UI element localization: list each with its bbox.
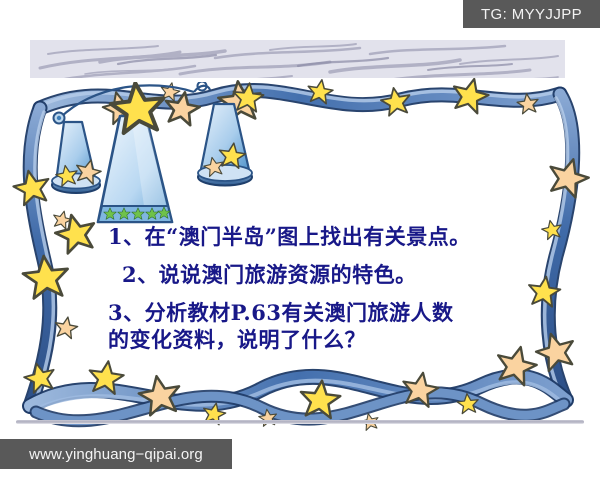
site-watermark: www.yinghuang−qipai.org — [0, 439, 232, 469]
question-line-1: 1、在“澳门半岛”图上找出有关景点。 — [108, 226, 528, 247]
question-line-3a: 3、分析教材P.63有关澳门旅游人数 — [108, 302, 528, 323]
horizontal-rule — [16, 420, 584, 424]
question-line-2: 2、说说澳门旅游资源的特色。 — [108, 264, 528, 285]
tg-badge: TG: MYYJJPP — [463, 0, 600, 28]
slide-screenshot: 1、在“澳门半岛”图上找出有关景点。 2、说说澳门旅游资源的特色。 3、分析教材… — [0, 0, 600, 480]
question-list: 1、在“澳门半岛”图上找出有关景点。 2、说说澳门旅游资源的特色。 3、分析教材… — [108, 226, 528, 350]
question-line-3b: 的变化资料，说明了什么？ — [108, 329, 528, 350]
